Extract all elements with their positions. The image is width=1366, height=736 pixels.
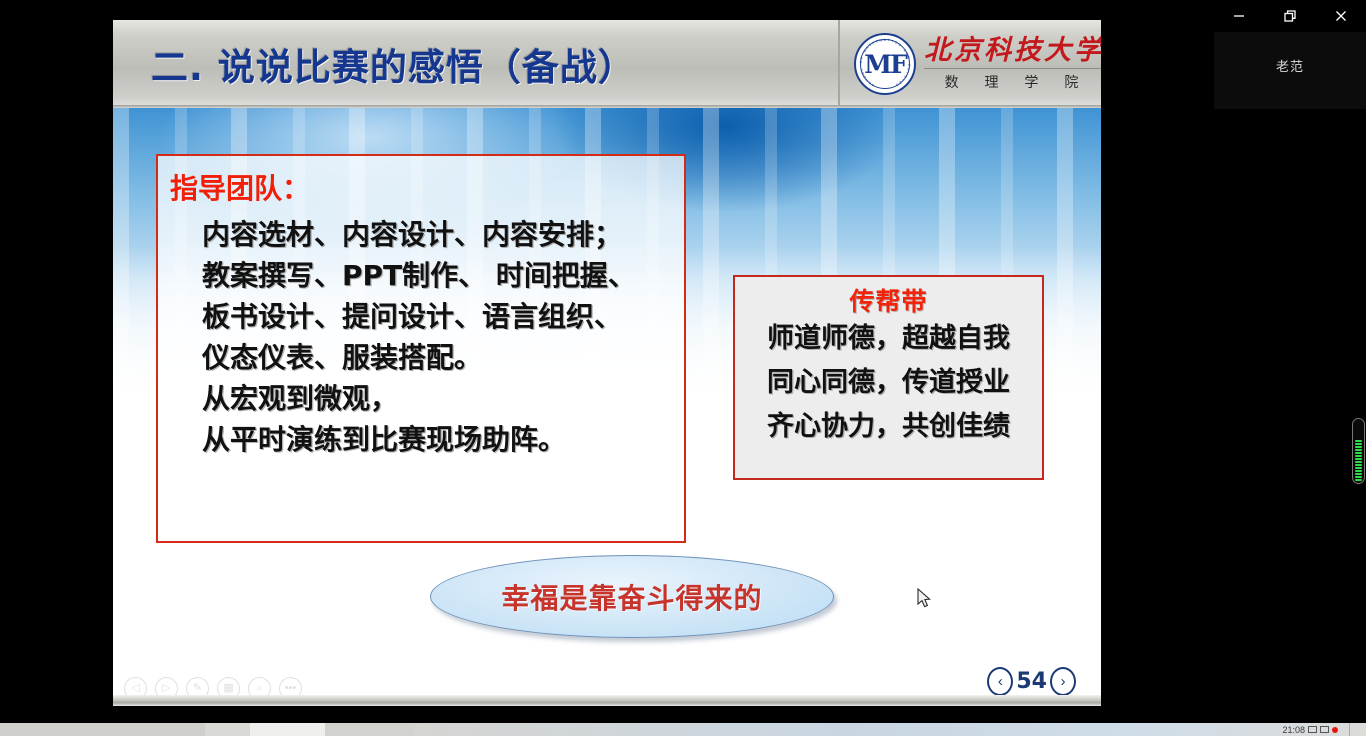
system-tray[interactable]: 21:08 <box>1282 723 1338 736</box>
badge-ring-char: M <box>879 38 883 42</box>
clock-text: 21:08 <box>1282 725 1305 735</box>
university-logo: SCHOOL OF MATHEMATICS AND PHYSICS MF 北京科… <box>842 20 1101 108</box>
guidance-team-item: 内容选材、内容设计、内容安排； <box>202 214 684 255</box>
slide-page-nav: ‹ 54 › <box>987 667 1076 696</box>
minimize-icon[interactable] <box>1216 1 1262 31</box>
close-icon[interactable] <box>1318 1 1364 31</box>
mentoring-line: 齐心协力，共创佳绩 <box>735 405 1042 449</box>
desktop-taskbar[interactable]: 21:08 <box>0 723 1366 736</box>
page-number: 54 <box>1016 669 1047 694</box>
audio-meter-segment <box>1355 443 1362 445</box>
keyboard-icon[interactable] <box>1320 726 1329 733</box>
taskbar-segment <box>205 723 250 736</box>
audio-meter-segment <box>1355 461 1362 463</box>
audio-meter-segment <box>1355 470 1362 472</box>
guidance-team-item: 仪态仪表、服装搭配。 <box>202 337 684 378</box>
restore-icon[interactable] <box>1267 1 1313 31</box>
logo-text-block: 北京科技大学 数 理 学 院 <box>924 37 1101 92</box>
guidance-team-item: 板书设计、提问设计、语言组织、 <box>202 296 684 337</box>
taskbar-segment <box>415 723 1366 736</box>
badge-ring-char: T <box>887 38 890 42</box>
audio-meter-segment <box>1355 455 1362 457</box>
slogan-text: 幸福是靠奋斗得来的 <box>501 577 762 617</box>
audio-meter-segment <box>1355 449 1362 451</box>
guidance-team-heading: 指导团队： <box>170 172 684 206</box>
slide-body: 指导团队： 内容选材、内容设计、内容安排；教案撰写、PPT制作、 时间把握、板书… <box>113 108 1101 706</box>
network-icon[interactable] <box>1308 726 1317 733</box>
prev-page-button[interactable]: ‹ <box>987 667 1013 696</box>
mentoring-line: 师道师德，超越自我 <box>735 317 1042 361</box>
screen: 老范 二. 说说比赛的感悟（备战） SCHOOL OF MATHEMATICS … <box>0 0 1366 736</box>
next-page-button[interactable]: › <box>1050 667 1076 696</box>
badge-ring-char: S <box>871 82 875 87</box>
mentoring-lines: 师道师德，超越自我同心同德，传道授业齐心协力，共创佳绩 <box>735 317 1042 449</box>
slogan-ellipse: 幸福是靠奋斗得来的 <box>430 555 834 638</box>
badge-ring-char: S <box>897 43 902 48</box>
badge-ring-char: A <box>884 38 887 42</box>
slide-header: 二. 说说比赛的感悟（备战） SCHOOL OF MATHEMATICS AND… <box>113 20 1101 108</box>
slide-title-plate: 二. 说说比赛的感悟（备战） <box>113 20 840 108</box>
participant-name: 老范 <box>1276 56 1304 75</box>
audio-meter-segment <box>1355 452 1362 454</box>
badge-ring-char: O <box>859 60 863 63</box>
mentoring-box: 传帮带 师道师德，超越自我同心同德，传道授业齐心协力，共创佳绩 <box>733 275 1044 480</box>
audio-meter-segment <box>1355 440 1362 442</box>
presentation-slide: 二. 说说比赛的感悟（备战） SCHOOL OF MATHEMATICS AND… <box>113 20 1101 706</box>
guidance-team-list: 内容选材、内容设计、内容安排；教案撰写、PPT制作、 时间把握、板书设计、提问设… <box>158 214 684 461</box>
mentoring-line: 同心同德，传道授业 <box>735 361 1042 405</box>
mouse-cursor <box>917 588 933 615</box>
guidance-team-box: 指导团队： 内容选材、内容设计、内容安排；教案撰写、PPT制作、 时间把握、板书… <box>156 154 686 543</box>
taskbar-active-window[interactable] <box>250 723 325 736</box>
university-name: 北京科技大学 <box>924 37 1101 64</box>
badge-ring-char: D <box>906 56 911 60</box>
taskbar-segment <box>0 723 205 736</box>
window-controls <box>1214 0 1366 32</box>
taskbar-segment <box>325 723 415 736</box>
page-title: 二. 说说比赛的感悟（备战） <box>151 37 636 91</box>
badge-monogram: MF <box>864 52 905 77</box>
guidance-team-item: 从宏观到微观， <box>202 378 684 419</box>
audio-meter-segment <box>1355 464 1362 466</box>
school-name: 数 理 学 院 <box>924 72 1101 92</box>
audio-meter-segment <box>1355 473 1362 475</box>
mentoring-title: 传帮带 <box>735 286 1042 317</box>
slide-bottom-bar <box>113 695 1101 706</box>
notification-badge-icon[interactable] <box>1332 727 1338 733</box>
badge-ring-char: P <box>907 64 911 67</box>
audio-meter-segment <box>1355 458 1362 460</box>
audio-meter-segment <box>1355 476 1362 478</box>
audio-meter-segment <box>1355 467 1362 469</box>
taskbar-divider <box>1349 723 1350 736</box>
audio-level-meter <box>1352 418 1365 484</box>
logo-divider <box>924 68 1101 69</box>
audio-meter-segment <box>1355 479 1362 481</box>
school-badge-icon: SCHOOL OF MATHEMATICS AND PHYSICS MF <box>854 33 916 95</box>
participant-video-tile[interactable]: 老范 <box>1214 21 1366 109</box>
audio-meter-segment <box>1355 446 1362 448</box>
guidance-team-item: 从平时演练到比赛现场助阵。 <box>202 419 684 460</box>
guidance-team-item: 教案撰写、PPT制作、 时间把握、 <box>202 255 684 296</box>
